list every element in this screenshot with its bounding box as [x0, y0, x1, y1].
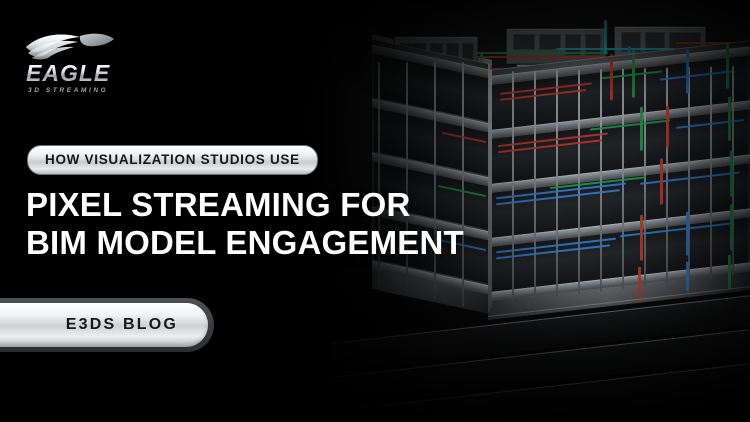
blog-badge[interactable]: E3DS BLOG: [0, 298, 214, 352]
blog-badge-label: E3DS BLOG: [66, 316, 178, 334]
eagle-wing-icon: [24, 30, 116, 60]
blog-banner: EAGLE 3D STREAMING HOW VISUALIZATION STU…: [0, 0, 750, 422]
headline-line-1: PIXEL STREAMING FOR: [26, 186, 411, 223]
page-title: PIXEL STREAMING FOR BIM MODEL ENGAGEMENT: [26, 186, 496, 263]
eagle-3d-streaming-logo[interactable]: EAGLE 3D STREAMING: [24, 30, 128, 94]
logo-tagline: 3D STREAMING: [24, 87, 128, 94]
logo-wordmark: EAGLE: [24, 62, 128, 85]
blog-badge-inner: E3DS BLOG: [0, 303, 208, 347]
headline-line-2: BIM MODEL ENGAGEMENT: [26, 224, 496, 262]
kicker-badge: HOW VISUALIZATION STUDIOS USE: [27, 145, 318, 175]
